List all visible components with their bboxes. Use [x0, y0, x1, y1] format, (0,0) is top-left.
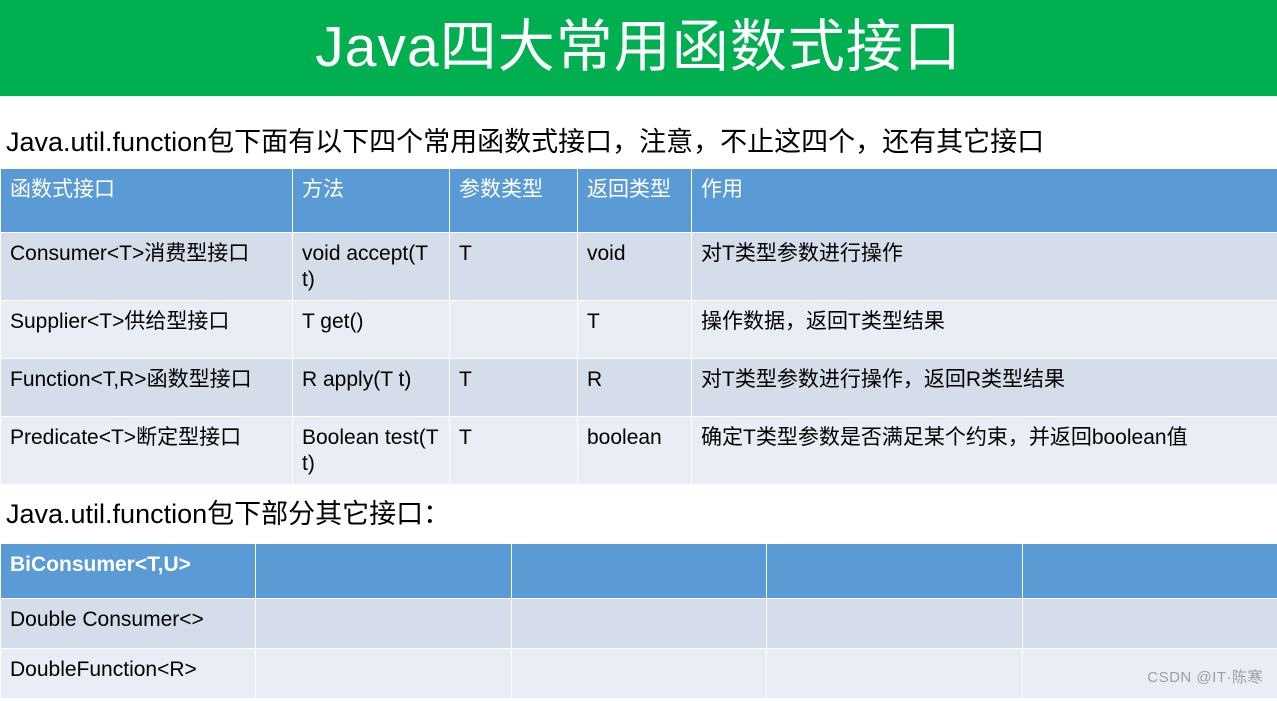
- page-title: Java四大常用函数式接口: [315, 18, 961, 78]
- extra-cell-5: [1022, 599, 1277, 649]
- extra-column-header-3: [511, 544, 766, 599]
- extra-cell-3: [511, 649, 766, 699]
- cell-method: R apply(T t): [293, 359, 450, 417]
- extra-column-header-2: [256, 544, 511, 599]
- table-row: Predicate<T>断定型接口 Boolean test(T t) T bo…: [1, 417, 1277, 485]
- cell-return-type: boolean: [578, 417, 692, 485]
- cell-param-type: [450, 301, 578, 359]
- table-row: Double Consumer<>: [1, 599, 1277, 649]
- cell-method: Boolean test(T t): [293, 417, 450, 485]
- column-header-return-type: 返回类型: [578, 169, 692, 233]
- cell-interface: Predicate<T>断定型接口: [1, 417, 293, 485]
- cell-return-type: T: [578, 301, 692, 359]
- extra-column-header-5: [1022, 544, 1277, 599]
- cell-usage: 确定T类型参数是否满足某个约束，并返回boolean值: [692, 417, 1277, 485]
- column-header-method: 方法: [293, 169, 450, 233]
- cell-usage: 对T类型参数进行操作: [692, 233, 1277, 301]
- table-header-row: 函数式接口 方法 参数类型 返回类型 作用: [1, 169, 1277, 233]
- cell-interface: Supplier<T>供给型接口: [1, 301, 293, 359]
- cell-method: T get(): [293, 301, 450, 359]
- extra-column-header-1: BiConsumer<T,U>: [1, 544, 256, 599]
- table-row: DoubleFunction<R>: [1, 649, 1277, 699]
- extra-column-header-4: [767, 544, 1022, 599]
- second-paragraph: Java.util.function包下部分其它接口：: [0, 485, 1277, 543]
- cell-method: void accept(T t): [293, 233, 450, 301]
- cell-interface: Consumer<T>消费型接口: [1, 233, 293, 301]
- extra-cell-interface: Double Consumer<>: [1, 599, 256, 649]
- cell-return-type: R: [578, 359, 692, 417]
- extra-cell-interface: DoubleFunction<R>: [1, 649, 256, 699]
- cell-param-type: T: [450, 417, 578, 485]
- other-interfaces-table: BiConsumer<T,U> Double Consumer<> Double…: [0, 543, 1277, 699]
- extra-cell-4: [767, 599, 1022, 649]
- table-row: Function<T,R>函数型接口 R apply(T t) T R 对T类型…: [1, 359, 1277, 417]
- cell-usage: 操作数据，返回T类型结果: [692, 301, 1277, 359]
- cell-param-type: T: [450, 359, 578, 417]
- cell-interface: Function<T,R>函数型接口: [1, 359, 293, 417]
- cell-param-type: T: [450, 233, 578, 301]
- intro-paragraph: Java.util.function包下面有以下四个常用函数式接口，注意，不止这…: [0, 116, 1277, 168]
- cell-usage: 对T类型参数进行操作，返回R类型结果: [692, 359, 1277, 417]
- extra-cell-4: [767, 649, 1022, 699]
- extra-table-header-row: BiConsumer<T,U>: [1, 544, 1277, 599]
- extra-cell-5: [1022, 649, 1277, 699]
- extra-cell-2: [256, 649, 511, 699]
- column-header-param-type: 参数类型: [450, 169, 578, 233]
- extra-cell-3: [511, 599, 766, 649]
- table-row: Supplier<T>供给型接口 T get() T 操作数据，返回T类型结果: [1, 301, 1277, 359]
- table-row: Consumer<T>消费型接口 void accept(T t) T void…: [1, 233, 1277, 301]
- intro-paragraph-text: Java.util.function包下面有以下四个常用函数式接口，注意，不止这…: [6, 126, 1044, 158]
- functional-interfaces-table: 函数式接口 方法 参数类型 返回类型 作用 Consumer<T>消费型接口 v…: [0, 168, 1277, 485]
- title-banner: Java四大常用函数式接口: [0, 0, 1277, 96]
- cell-return-type: void: [578, 233, 692, 301]
- extra-cell-2: [256, 599, 511, 649]
- column-header-usage: 作用: [692, 169, 1277, 233]
- second-paragraph-text: Java.util.function包下部分其它接口：: [6, 498, 450, 530]
- column-header-interface: 函数式接口: [1, 169, 293, 233]
